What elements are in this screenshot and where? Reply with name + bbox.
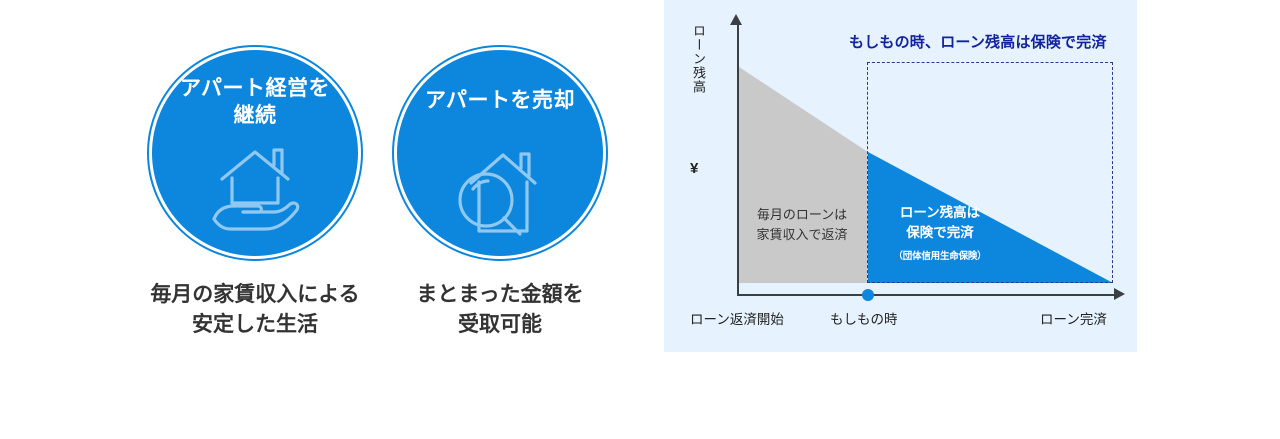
chart-plot-area: もしもの時、ローン残高は保険で完済 ローン残高 ¥ 毎月のローンは 家賃収入で返… [664,0,1137,352]
x-axis-line [737,294,1118,296]
benefit-caption: 毎月の家賃収入による 安定した生活 [149,280,361,340]
blue-region-sublabel: （団体信用生命保険） [872,248,1008,262]
y-axis-arrow-icon [730,14,742,25]
x-axis-arrow-icon [1114,288,1125,300]
benefit-circle-title: アパート経営を 継続 [180,75,330,130]
benefits-section: アパート経営を 継続 毎月の家賃収入による 安定した生活 アパートを売却 [0,0,664,439]
benefit-caption: まとまった金額を 受取可能 [394,280,606,340]
series-area-self-repayment [739,67,868,283]
y-axis-unit-label: ¥ [690,160,698,177]
benefit-circle: アパートを売却 [394,47,606,259]
benefit-circle-title: アパートを売却 [425,87,575,114]
blue-region-label: ローン残高は 保険で完済 [872,203,1008,242]
house-in-hand-icon [196,145,314,237]
y-axis-line [737,22,739,296]
benefit-card-sell-apartment: アパートを売却 まとまった金額を 受取可能 [394,47,606,340]
gray-region-label: 毎月のローンは 家賃収入で返済 [735,205,869,244]
x-tick-label-loan-complete: ローン完済 [1040,308,1107,328]
x-tick-label-loan-start: ローン返済開始 [690,308,784,328]
benefit-card-continue-management: アパート経営を 継続 毎月の家賃収入による 安定した生活 [149,47,361,340]
benefit-circle: アパート経営を 継続 [149,47,361,259]
chart-title: もしもの時、ローン残高は保険で完済 [849,31,1139,52]
loan-balance-chart-panel: もしもの時、ローン残高は保険で完済 ローン残高 ¥ 毎月のローンは 家賃収入で返… [664,0,1137,352]
x-tick-label-unexpected-event: もしもの時 [830,308,898,328]
event-dot-marker [862,289,874,301]
house-with-magnifier-icon [441,145,559,245]
y-axis-label: ローン残高 [686,24,706,94]
